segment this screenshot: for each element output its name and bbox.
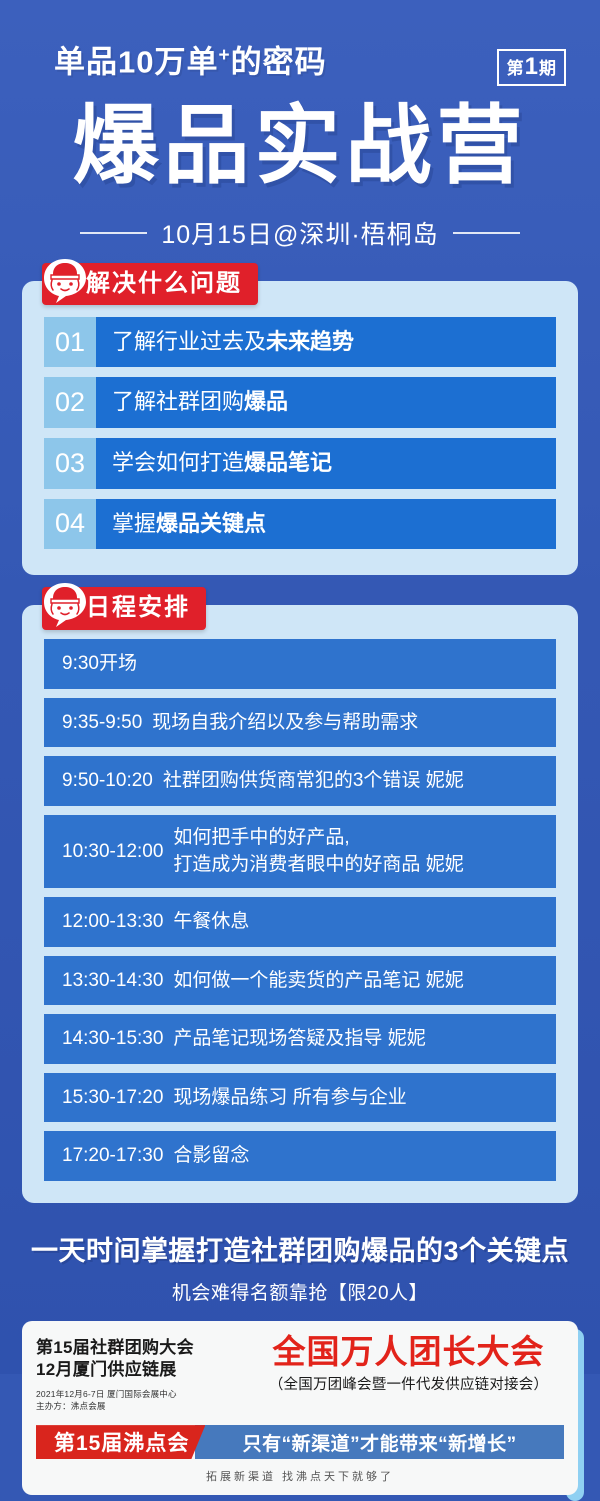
item-text-bold: 未来趋势 xyxy=(266,328,354,357)
schedule-row: 10:30-12:00如何把手中的好产品, 打造成为消费者眼中的好商品 妮妮 xyxy=(44,815,556,888)
page-title: 爆品实战营 xyxy=(0,100,600,193)
issue-prefix: 第 xyxy=(507,59,524,78)
issue-number: 1 xyxy=(524,53,539,80)
issue-suffix: 期 xyxy=(539,59,556,78)
banner-left-line1: 第15届社群团购大会 xyxy=(36,1337,251,1359)
item-text: 学会如何打造爆品笔记 xyxy=(96,438,556,489)
section-problems: 解决什么问题 01 了解行业过去及未来趋势 02 了解社群团购爆品 xyxy=(22,281,578,575)
item-number: 03 xyxy=(44,438,96,489)
banner-strip-red: 第15届沸点会 xyxy=(36,1425,205,1459)
cta-subline: 机会难得名额靠抢【限20人】 xyxy=(14,1278,586,1305)
schedule-row: 15:30-17:20现场爆品练习 所有参与企业 xyxy=(44,1073,556,1123)
item-text-bold: 爆品 xyxy=(244,388,288,417)
kicker-prefix: 单品10万单 xyxy=(54,44,218,79)
banner-left-line2: 12月厦门供应链展 xyxy=(36,1359,251,1381)
date-location-text: 10月15日@深圳·梧桐岛 xyxy=(161,215,438,251)
mascot-icon xyxy=(40,256,90,306)
list-item: 02 了解社群团购爆品 xyxy=(44,377,556,428)
schedule-desc: 社群团购供货商常犯的3个错误 妮妮 xyxy=(163,767,464,795)
rule-right xyxy=(453,232,520,234)
banner-right-title: 全国万人团长大会 xyxy=(253,1335,564,1368)
item-text-plain: 了解社群团购 xyxy=(112,388,244,417)
section-schedule-tab: 日程安排 xyxy=(42,587,206,630)
bottom-banner: 第15届社群团购大会 12月厦门供应链展 2021年12月6-7日 厦门国际会展… xyxy=(22,1321,578,1495)
cta-headline: 一天时间掌握打造社群团购爆品的3个关键点 xyxy=(14,1229,586,1268)
schedule-row: 13:30-14:30如何做一个能卖货的产品笔记 妮妮 xyxy=(44,956,556,1006)
list-item: 04 掌握爆品关键点 xyxy=(44,499,556,550)
item-text-plain: 了解行业过去及 xyxy=(112,328,266,357)
item-text: 掌握爆品关键点 xyxy=(96,499,556,550)
banner-strip: 第15届沸点会 只有“新渠道”才能带来“新增长” xyxy=(36,1425,564,1459)
item-number: 01 xyxy=(44,317,96,368)
item-text: 了解行业过去及未来趋势 xyxy=(96,317,556,368)
schedule-desc: 午餐休息 xyxy=(173,908,249,936)
banner-right: 全国万人团长大会 （全国万团峰会暨一件代发供应链对接会） xyxy=(251,1335,564,1394)
kicker-superscript: + xyxy=(218,45,230,66)
item-text-plain: 掌握 xyxy=(112,510,156,539)
banner-top: 第15届社群团购大会 12月厦门供应链展 2021年12月6-7日 厦门国际会展… xyxy=(22,1333,578,1419)
call-to-action: 一天时间掌握打造社群团购爆品的3个关键点 机会难得名额靠抢【限20人】 xyxy=(0,1229,600,1305)
section-problems-tab: 解决什么问题 xyxy=(42,263,258,306)
schedule-row: 9:35-9:50现场自我介绍以及参与帮助需求 xyxy=(44,698,556,748)
list-item: 01 了解行业过去及未来趋势 xyxy=(44,317,556,368)
schedule-time: 9:30 xyxy=(62,650,99,678)
list-item: 03 学会如何打造爆品笔记 xyxy=(44,438,556,489)
schedule-time: 13:30-14:30 xyxy=(62,967,163,995)
mascot-icon xyxy=(40,580,90,630)
schedule-row: 14:30-15:30产品笔记现场答疑及指导 妮妮 xyxy=(44,1014,556,1064)
schedule-desc: 如何做一个能卖货的产品笔记 妮妮 xyxy=(173,967,463,995)
banner-right-subtitle: （全国万团峰会暨一件代发供应链对接会） xyxy=(253,1373,564,1394)
item-text-bold: 爆品笔记 xyxy=(244,449,332,478)
section-schedule: 日程安排 9:30开场 9:35-9:50现场自我介绍以及参与帮助需求 9:50… xyxy=(22,605,578,1202)
item-text: 了解社群团购爆品 xyxy=(96,377,556,428)
schedule-row: 9:50-10:20社群团购供货商常犯的3个错误 妮妮 xyxy=(44,756,556,806)
banner-strip-blue: 只有“新渠道”才能带来“新增长” xyxy=(195,1425,564,1459)
issue-badge: 第1期 xyxy=(497,49,566,86)
banner-card: 第15届社群团购大会 12月厦门供应链展 2021年12月6-7日 厦门国际会展… xyxy=(22,1321,578,1495)
schedule-desc: 现场自我介绍以及参与帮助需求 xyxy=(152,709,418,737)
kicker-text: 单品10万单+的密码 xyxy=(54,46,327,77)
schedule-time: 17:20-17:30 xyxy=(62,1142,163,1170)
rule-left xyxy=(80,232,147,234)
schedule-desc: 开场 xyxy=(99,650,137,678)
schedule-desc: 产品笔记现场答疑及指导 妮妮 xyxy=(173,1025,425,1053)
item-number: 02 xyxy=(44,377,96,428)
banner-detail-line2: 主办方：沸点会展 xyxy=(36,1400,251,1413)
kicker-row: 单品10万单+的密码 第1期 xyxy=(0,46,600,86)
schedule-row: 17:20-17:30合影留念 xyxy=(44,1131,556,1181)
schedule-time: 12:00-13:30 xyxy=(62,908,163,936)
section-schedule-body: 9:30开场 9:35-9:50现场自我介绍以及参与帮助需求 9:50-10:2… xyxy=(22,605,578,1202)
section-problems-body: 01 了解行业过去及未来趋势 02 了解社群团购爆品 03 学会如何打造爆品笔记… xyxy=(22,281,578,575)
schedule-row: 12:00-13:30午餐休息 xyxy=(44,897,556,947)
schedule-time: 15:30-17:20 xyxy=(62,1084,163,1112)
schedule-row: 9:30开场 xyxy=(44,639,556,689)
banner-footer: 拓展新渠道 找沸点天下就够了 xyxy=(22,1459,578,1495)
schedule-time: 9:35-9:50 xyxy=(62,709,142,737)
schedule-desc: 如何把手中的好产品, 打造成为消费者眼中的好商品 妮妮 xyxy=(173,824,463,879)
date-location-line: 10月15日@深圳·梧桐岛 xyxy=(0,215,600,251)
item-text-bold: 爆品关键点 xyxy=(156,510,266,539)
item-number: 04 xyxy=(44,499,96,550)
banner-detail-line1: 2021年12月6-7日 厦门国际会展中心 xyxy=(36,1388,251,1401)
kicker-suffix: 的密码 xyxy=(231,44,327,79)
poster-header: 单品10万单+的密码 第1期 爆品实战营 10月15日@深圳·梧桐岛 xyxy=(0,0,600,251)
schedule-time: 14:30-15:30 xyxy=(62,1025,163,1053)
schedule-desc: 合影留念 xyxy=(173,1142,249,1170)
schedule-time: 9:50-10:20 xyxy=(62,767,153,795)
schedule-desc: 现场爆品练习 所有参与企业 xyxy=(173,1084,406,1112)
schedule-time: 10:30-12:00 xyxy=(62,838,163,866)
item-text-plain: 学会如何打造 xyxy=(112,449,244,478)
